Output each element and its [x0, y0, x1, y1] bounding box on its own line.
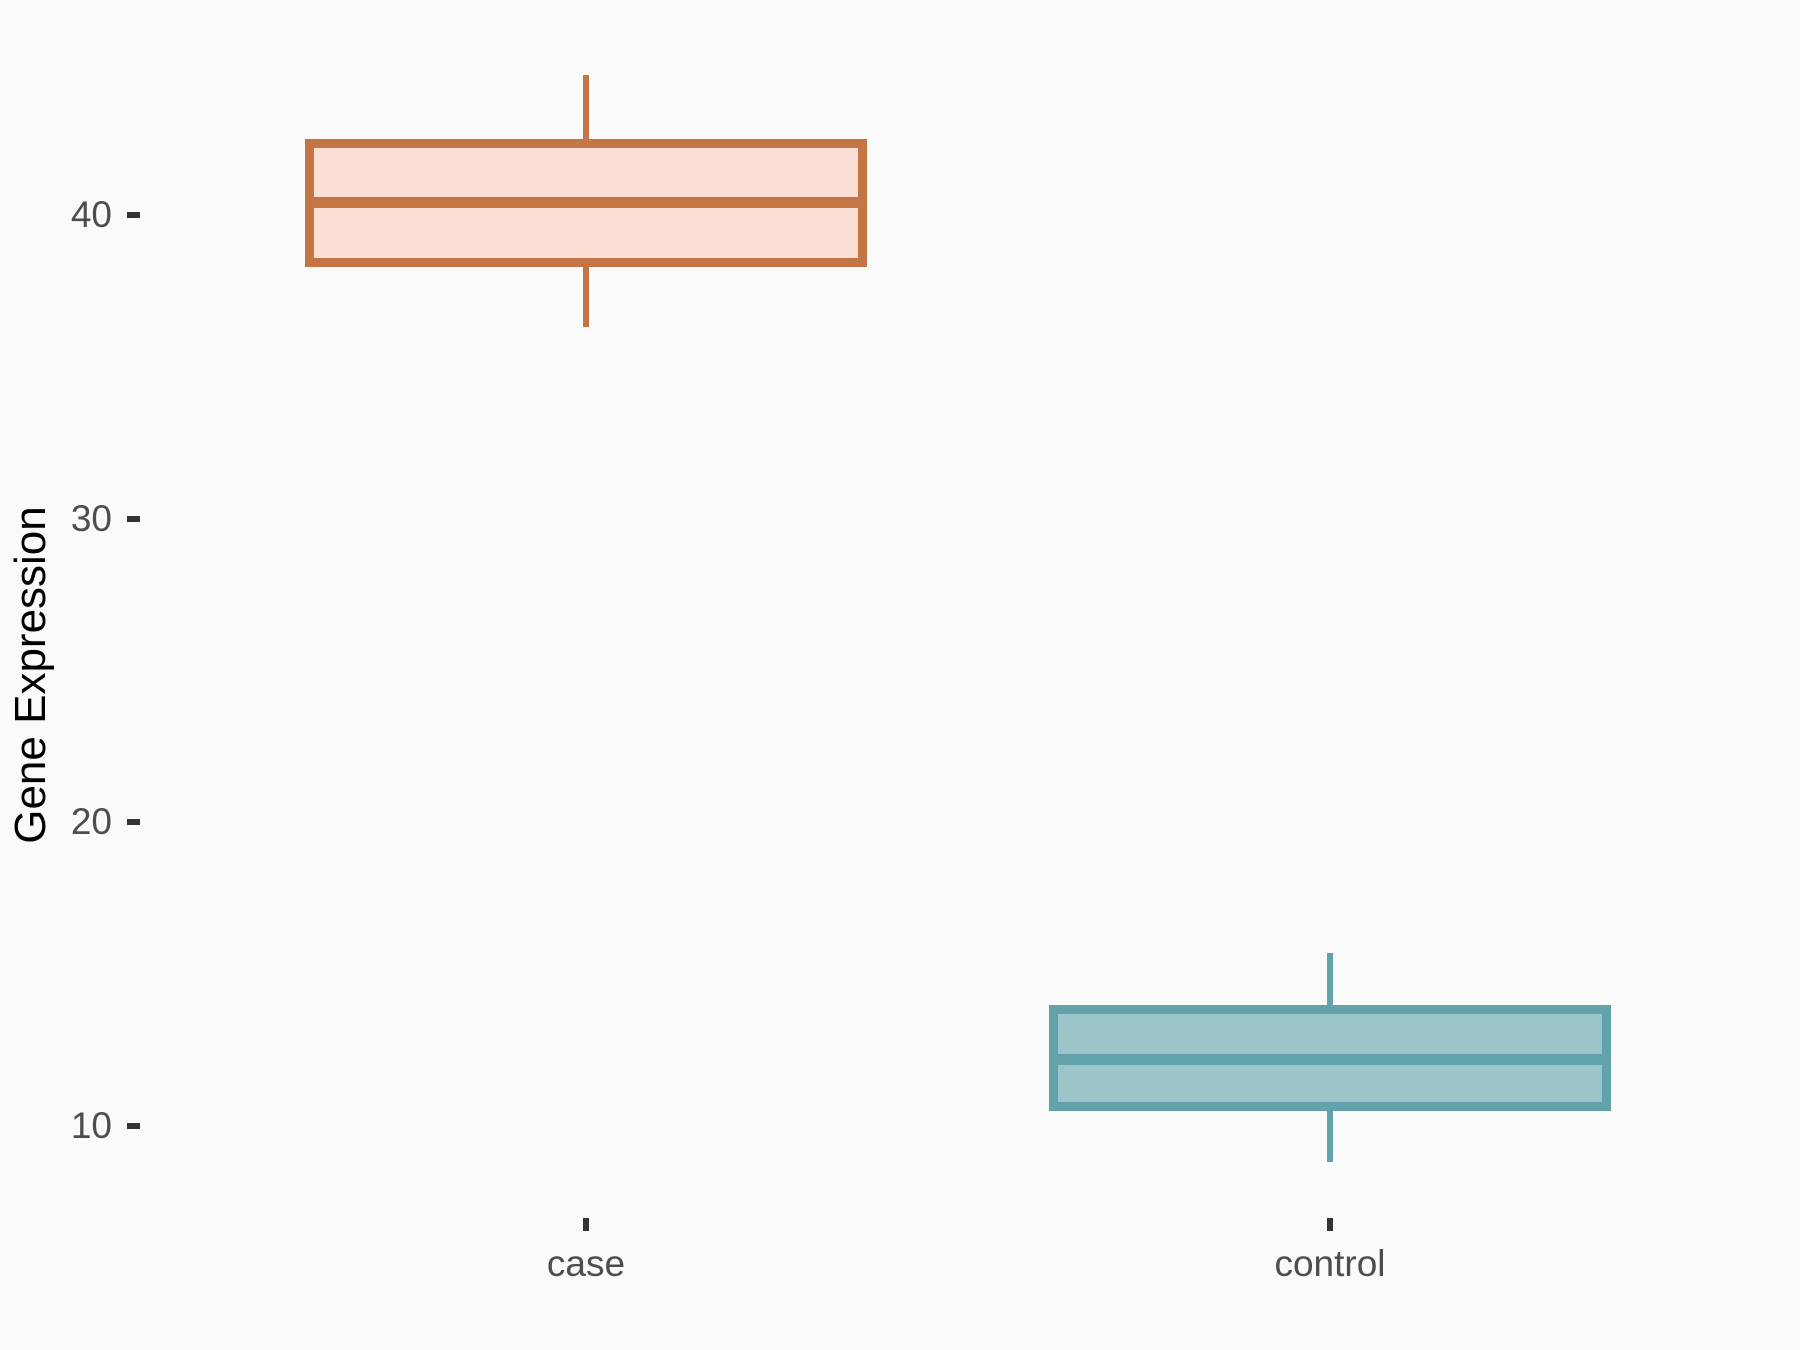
boxplot-canvas: Gene Expression 40302010 casecontrol — [0, 0, 1800, 1350]
whisker-lower-case — [583, 267, 589, 328]
y-tick-text: 10 — [0, 1105, 112, 1147]
y-tick-mark — [127, 819, 140, 825]
y-tick-text: 40 — [0, 194, 112, 236]
whisker-lower-control — [1327, 1111, 1333, 1163]
x-tick-label-case: case — [547, 1243, 625, 1285]
y-tick-mark — [127, 1123, 140, 1129]
y-tick-mark — [127, 516, 140, 522]
x-tick-mark-control — [1327, 1218, 1333, 1231]
whisker-upper-control — [1327, 953, 1333, 1005]
whisker-upper-case — [583, 75, 589, 139]
median-line-case — [305, 197, 867, 208]
median-line-control — [1049, 1054, 1611, 1065]
x-tick-label-control: control — [1274, 1243, 1385, 1285]
x-tick-mark-case — [583, 1218, 589, 1231]
y-tick-mark — [127, 212, 140, 218]
y-tick-text: 30 — [0, 498, 112, 540]
y-tick-text: 20 — [0, 801, 112, 843]
